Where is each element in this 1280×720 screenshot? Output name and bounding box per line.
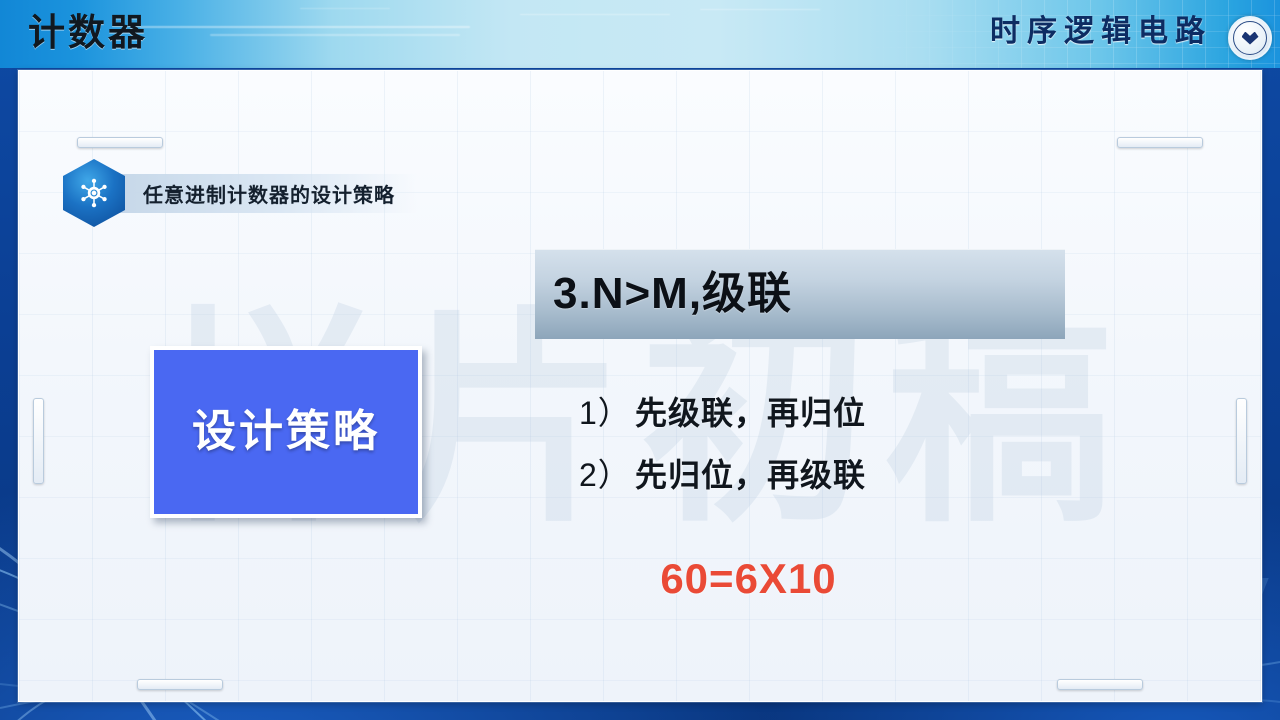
formula-text: 60=6X10 [19, 558, 1262, 600]
bullet-list: 1） 先级联，再归位 2） 先归位，再级联 [579, 397, 866, 521]
emblem-ring [1233, 21, 1267, 55]
panel-corner-tab-bottom-left [137, 679, 223, 690]
school-emblem-icon [1228, 16, 1272, 60]
strategy-callout-label: 设计策略 [192, 410, 380, 454]
list-item-number: 1） [579, 397, 635, 429]
topic-banner: 3.N>M,级联 [535, 249, 1065, 339]
hex-gear-icon [63, 159, 125, 227]
course-title: 时序逻辑电路 [990, 17, 1212, 47]
panel-corner-tab-left [33, 398, 44, 484]
panel-corner-tab-bottom-right [1057, 679, 1143, 690]
list-item-label: 先级联，再归位 [635, 397, 866, 429]
emblem-mark [1242, 32, 1259, 45]
content-panel: 样片初稿 任意进制计数器 [18, 70, 1262, 702]
presentation-slide: 计数器 时序逻辑电路 样片初稿 [0, 0, 1280, 720]
topic-banner-label: 3.N>M,级联 [535, 272, 792, 316]
panel-corner-tab-top-left [77, 137, 163, 148]
list-item-number: 2） [579, 459, 635, 491]
section-header-label: 任意进制计数器的设计策略 [119, 174, 417, 213]
list-item: 1） 先级联，再归位 [579, 397, 866, 429]
panel-corner-tab-top-right [1117, 137, 1203, 148]
panel-corner-tab-right [1236, 398, 1247, 484]
page-title: 计数器 [28, 14, 148, 51]
list-item-label: 先归位，再级联 [635, 459, 866, 491]
strategy-callout-box: 设计策略 [150, 346, 422, 518]
list-item: 2） 先归位，再级联 [579, 459, 866, 491]
section-header: 任意进制计数器的设计策略 [63, 159, 417, 227]
